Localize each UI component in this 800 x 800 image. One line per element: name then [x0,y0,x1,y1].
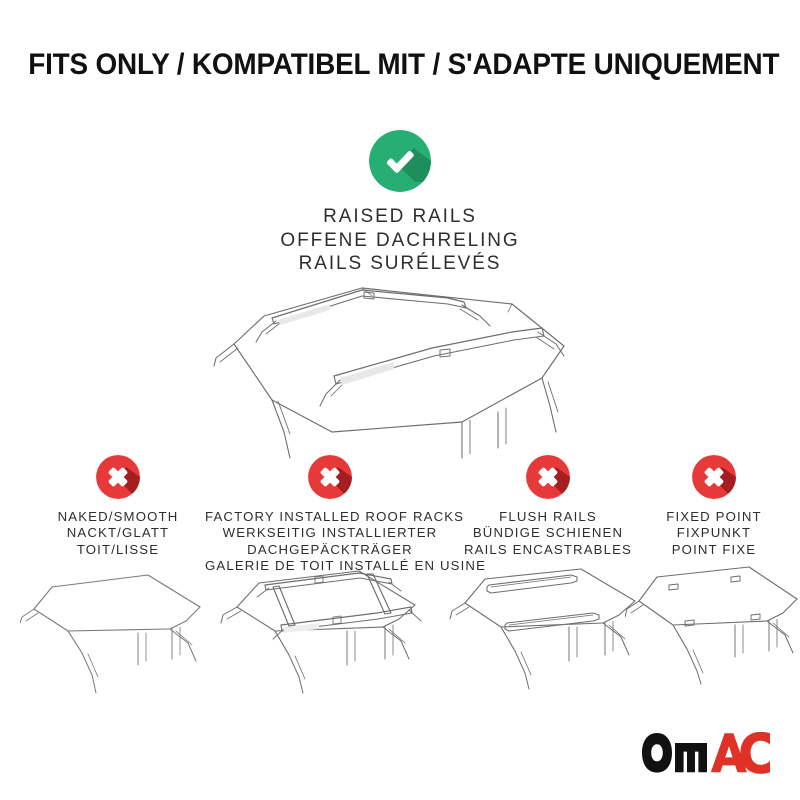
naked-labels: NAKED/SMOOTH NACKT/GLATT TOIT/LISSE [18,509,218,558]
incompatible-option-naked: NAKED/SMOOTH NACKT/GLATT TOIT/LISSE [18,455,218,558]
label-line-2: WERKSEITIG INSTALLIERTER [205,525,455,541]
label-line-1: FACTORY INSTALLED ROOF RACKS [205,509,455,525]
label-line-2: OFFENE DACHRELING [0,229,800,253]
x-circle-icon [308,455,352,499]
car-roof-bare-illustration [20,565,216,695]
label-line-2: NACKT/GLATT [18,525,218,541]
compatible-option-raised-rails: RAISED RAILS OFFENE DACHRELING RAILS SUR… [0,130,800,276]
page-title: FITS ONLY / KOMPATIBEL MIT / S'ADAPTE UN… [28,48,779,82]
incompatible-option-flush-rails: FLUSH RAILS BÜNDIGE SCHIENEN RAILS ENCAS… [448,455,648,558]
label-line-2: FIXPUNKT [628,525,800,541]
check-circle-icon [369,130,431,192]
x-circle-icon [692,455,736,499]
label-line-1: NAKED/SMOOTH [18,509,218,525]
flush-labels: FLUSH RAILS BÜNDIGE SCHIENEN RAILS ENCAS… [448,509,648,558]
car-roof-with-factory-crossbars-illustration [219,555,441,695]
omac-logo [640,732,772,774]
compatible-labels: RAISED RAILS OFFENE DACHRELING RAILS SUR… [0,205,800,276]
label-line-3: TOIT/LISSE [18,542,218,558]
label-line-1: FIXED POINT [628,509,800,525]
label-line-2: BÜNDIGE SCHIENEN [448,525,648,541]
label-line-1: RAISED RAILS [0,205,800,229]
incompatible-option-factory-racks: FACTORY INSTALLED ROOF RACKS WERKSEITIG … [205,455,455,574]
x-circle-icon [526,455,570,499]
incompatible-option-fixed-point: FIXED POINT FIXPUNKT POINT FIXE [628,455,800,558]
car-roof-with-fixed-points-illustration [625,555,800,685]
car-roof-with-raised-rails-illustration [212,282,592,462]
car-roof-with-flush-rails-illustration [449,555,647,690]
header: FITS ONLY / KOMPATIBEL MIT / S'ADAPTE UN… [0,48,800,82]
fixed-point-labels: FIXED POINT FIXPUNKT POINT FIXE [628,509,800,558]
label-line-1: FLUSH RAILS [448,509,648,525]
label-line-3: RAILS SURÉLEVÉS [0,252,800,276]
x-circle-icon [96,455,140,499]
